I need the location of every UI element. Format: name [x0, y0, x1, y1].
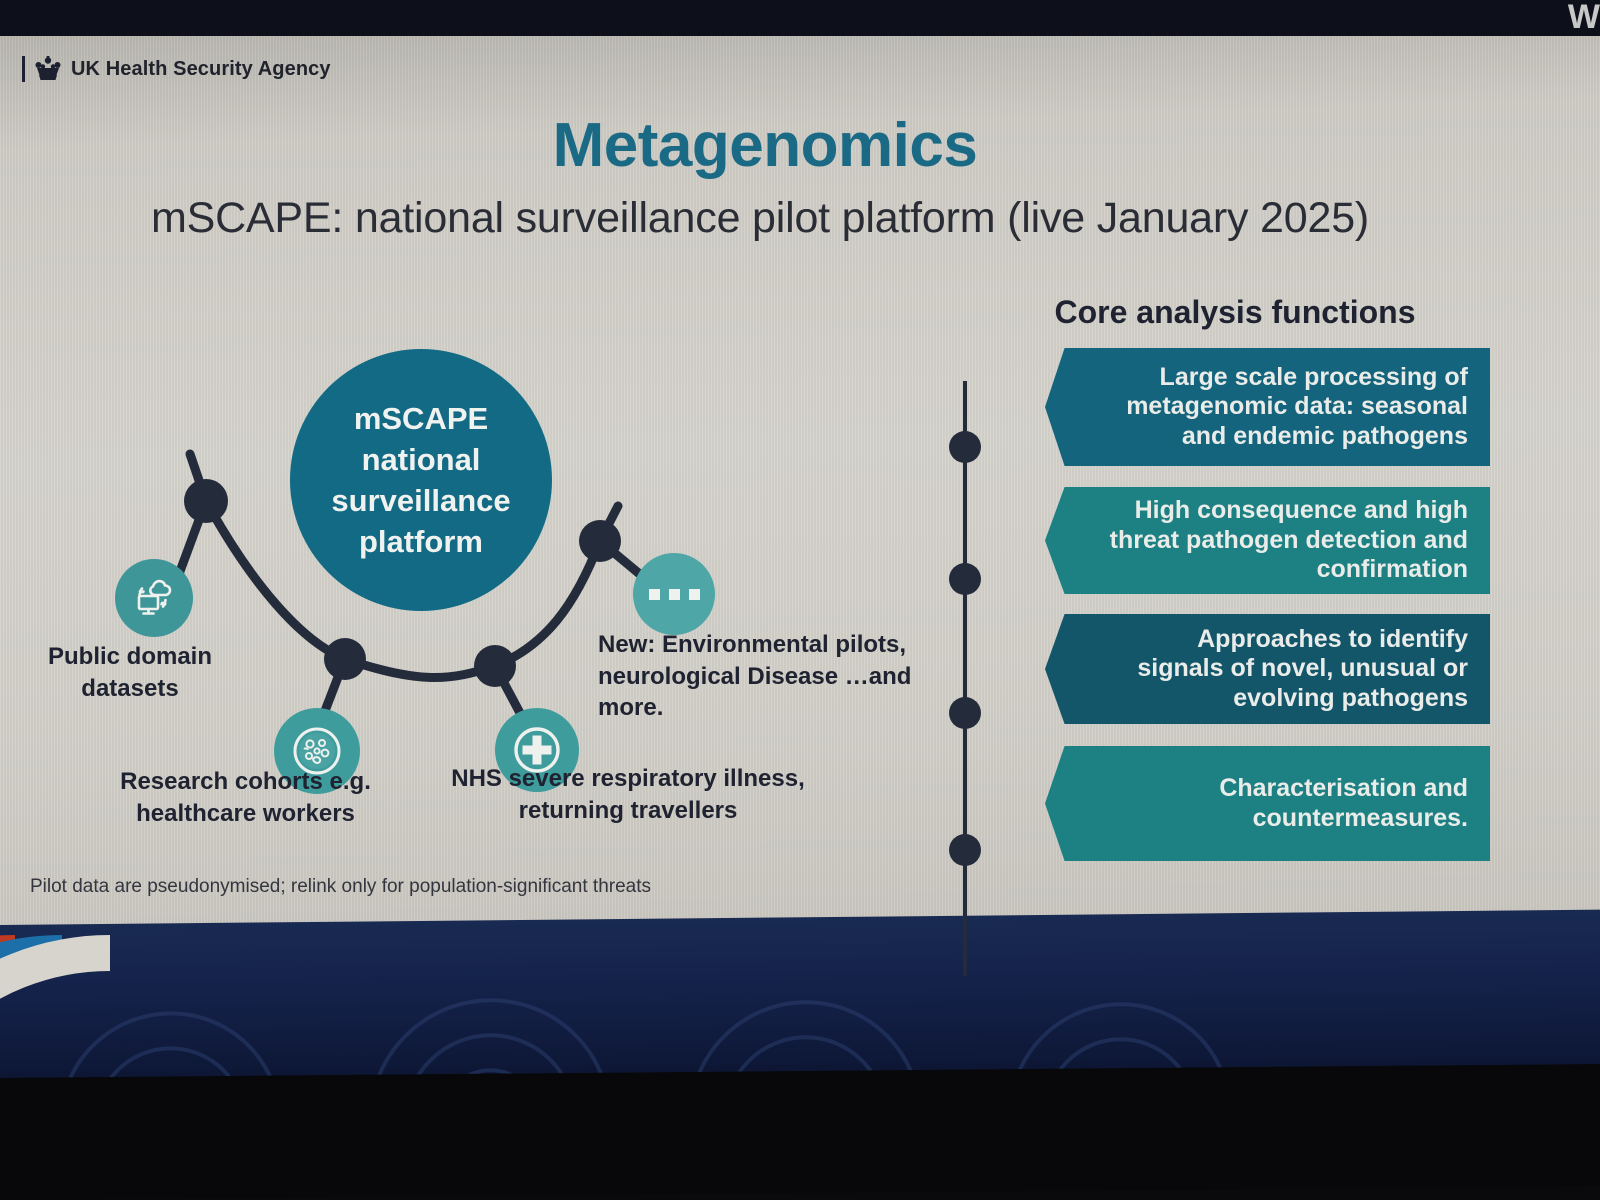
ellipsis-icon: [633, 553, 715, 635]
banner-connector-line: [963, 381, 967, 976]
node-caption-nhs: NHS severe respiratory illness, returnin…: [438, 763, 818, 826]
presentation-slide: UK Health Security Agency Metagenomics m…: [0, 36, 1600, 941]
corner-artifact: W: [1530, 0, 1600, 40]
node-caption-research-cohorts: Research cohorts e.g. healthcare workers: [68, 766, 423, 829]
hub-node-mscape: mSCAPEnationalsurveillanceplatform: [290, 349, 552, 611]
core-analysis-banner: Characterisation and countermeasures.: [1045, 746, 1490, 861]
cloud-computer-icon: [115, 559, 193, 637]
monitor-bezel-bottom: [0, 1064, 1600, 1200]
screenshot-stage: W: [0, 0, 1600, 1200]
core-analysis-heading: Core analysis functions: [1025, 294, 1445, 331]
hub-node-label: mSCAPEnationalsurveillanceplatform: [331, 398, 510, 563]
node-caption-new-pilots: New: Environmental pilots, neurological …: [598, 629, 928, 724]
network-diagram: mSCAPEnationalsurveillanceplatform: [0, 36, 960, 941]
core-analysis-banner: Large scale processing of metagenomic da…: [1045, 348, 1490, 466]
slide-footnote: Pilot data are pseudonymised; relink onl…: [30, 876, 651, 898]
core-analysis-banner: Approaches to identify signals of novel,…: [1045, 614, 1490, 724]
core-analysis-banner: High consequence and high threat pathoge…: [1045, 487, 1490, 594]
node-caption-public-domain: Public domain datasets: [0, 641, 260, 704]
core-analysis-banner-list: Large scale processing of metagenomic da…: [1045, 348, 1490, 861]
